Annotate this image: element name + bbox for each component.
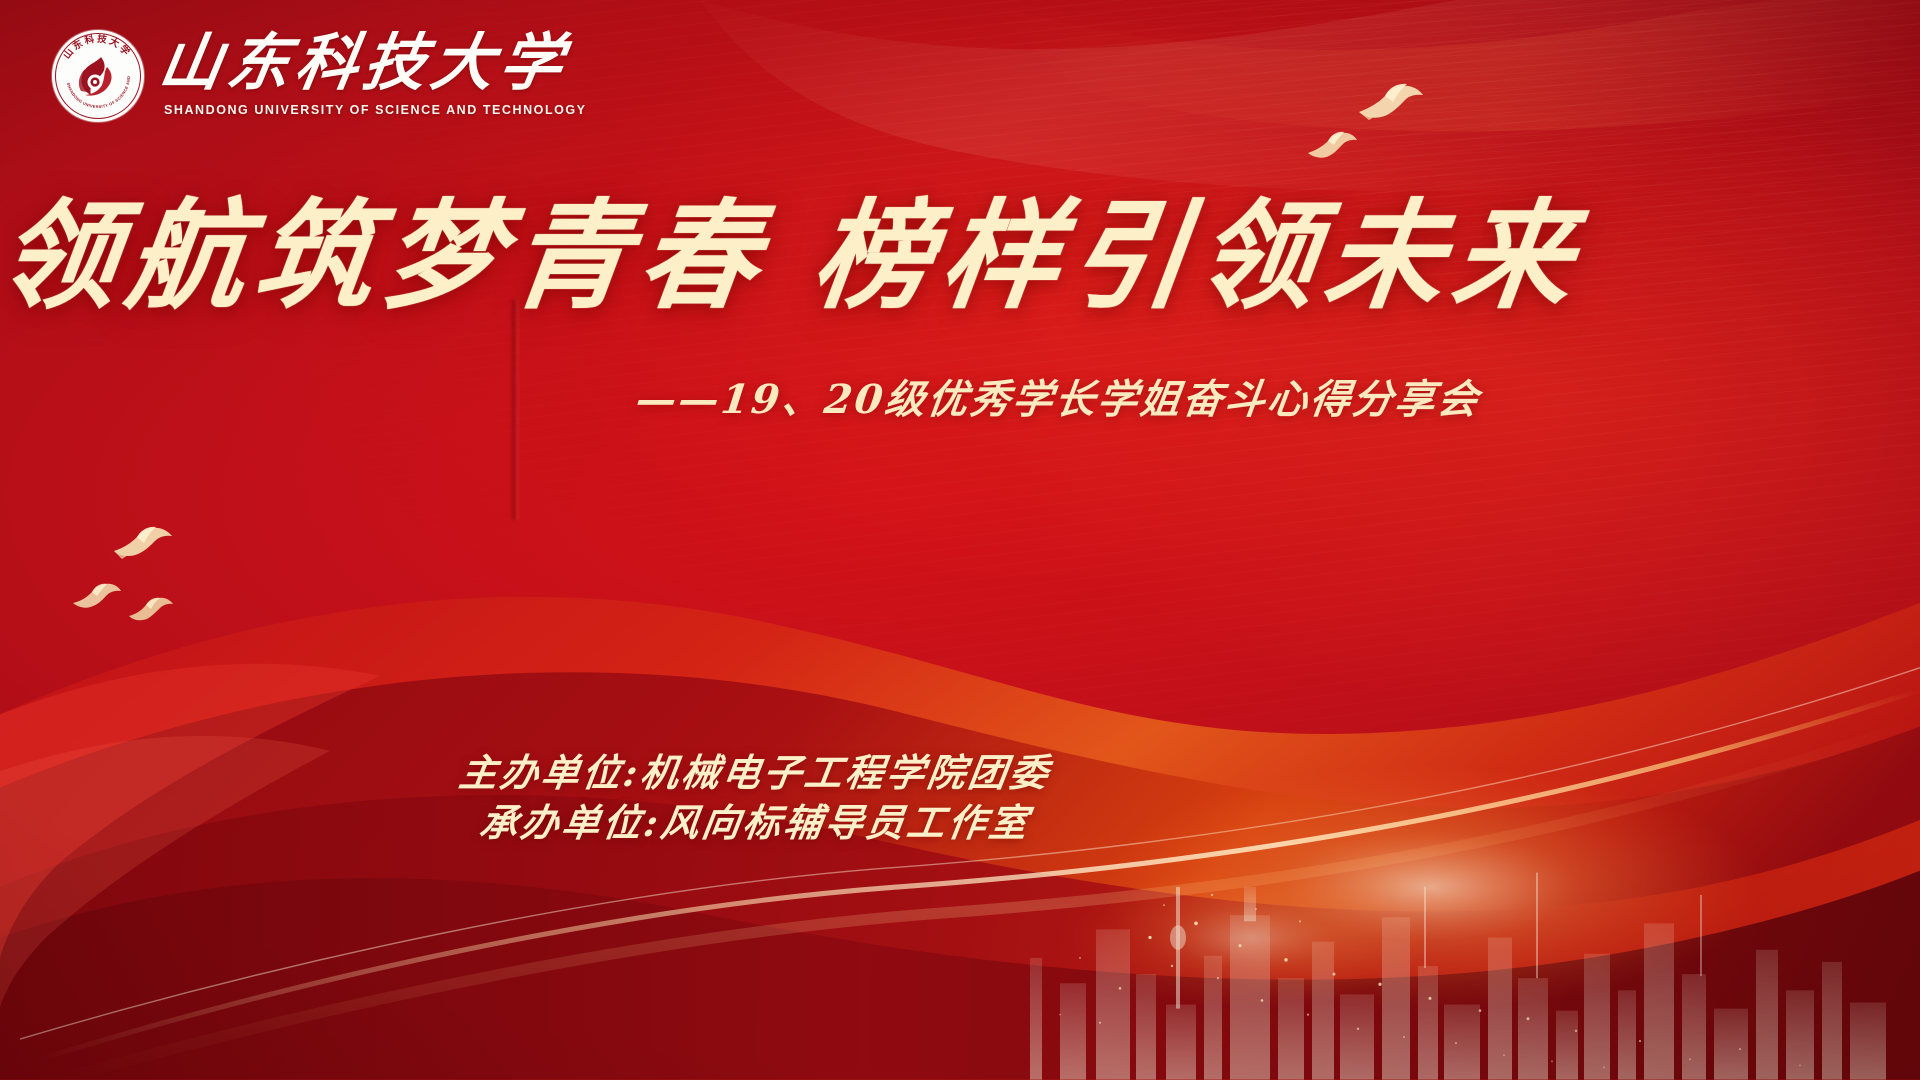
background-vignette [0,0,1920,1080]
poster-background [0,0,1920,1080]
dove-icon [70,582,122,614]
dove-icon [110,525,174,565]
university-name-en: SHANDONG UNIVERSITY OF SCIENCE AND TECHN… [164,103,587,117]
dove-icon [1355,82,1425,126]
title-part-1: 领航筑梦青春 [0,186,777,325]
shandong-university-seal-icon: 山东科技大学 SHANDONG UNIVERSITY OF SCIENCE AN… [52,30,144,122]
dove-icon [126,596,174,626]
organiser-block: 主办单位:机械电子工程学院团委 承办单位:风向标辅导员工作室 [0,748,1510,848]
university-logo: 山东科技大学 SHANDONG UNIVERSITY OF SCIENCE AN… [52,30,587,122]
page-subtitle: ——19、20级优秀学长学姐奋斗心得分享会 [0,378,1483,422]
dove-icon [1305,130,1359,164]
page-title: 领航筑梦青春榜样引领未来 [0,196,1567,316]
university-name-cn: 山东科技大学 [155,32,591,94]
host-organisation: 主办单位:机械电子工程学院团委 [0,748,1514,798]
title-part-2: 榜样引领未来 [806,186,1591,325]
seal-flame-emblem-icon [71,51,125,105]
co-organisation: 承办单位:风向标辅导员工作室 [0,798,1514,848]
